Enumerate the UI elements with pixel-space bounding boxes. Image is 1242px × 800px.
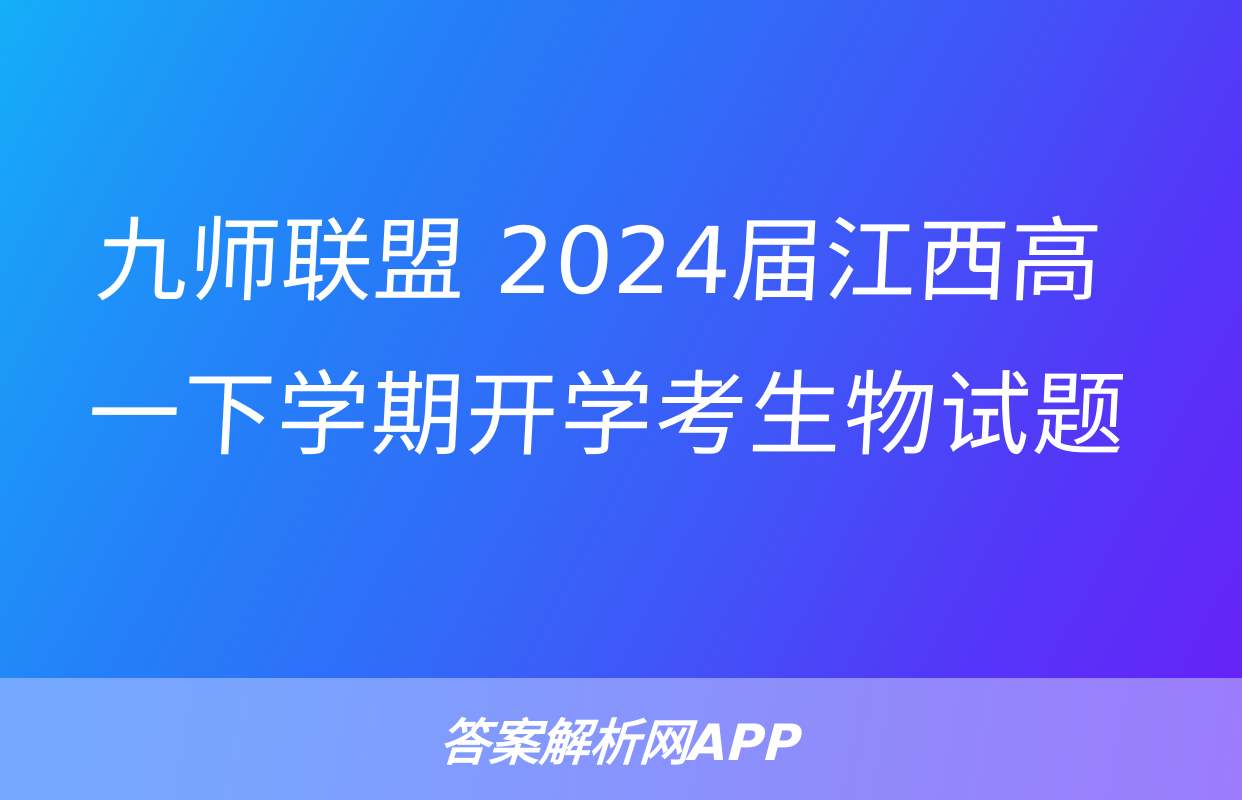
exam-cover-card: 九师联盟 2024届江西高 一下学期开学考生物试题 答案解析网APP [0,0,1242,800]
page-title-line-2: 一下学期开学考生物试题 [84,339,1150,493]
watermark-bar: 答案解析网APP [0,678,1242,800]
page-title-line-1: 九师联盟 2024届江西高 [92,185,1158,339]
page-title: 九师联盟 2024届江西高 一下学期开学考生物试题 [84,185,1158,493]
hero-gradient-panel: 九师联盟 2024届江西高 一下学期开学考生物试题 [0,0,1242,678]
app-watermark-label: 答案解析网APP [437,703,804,775]
